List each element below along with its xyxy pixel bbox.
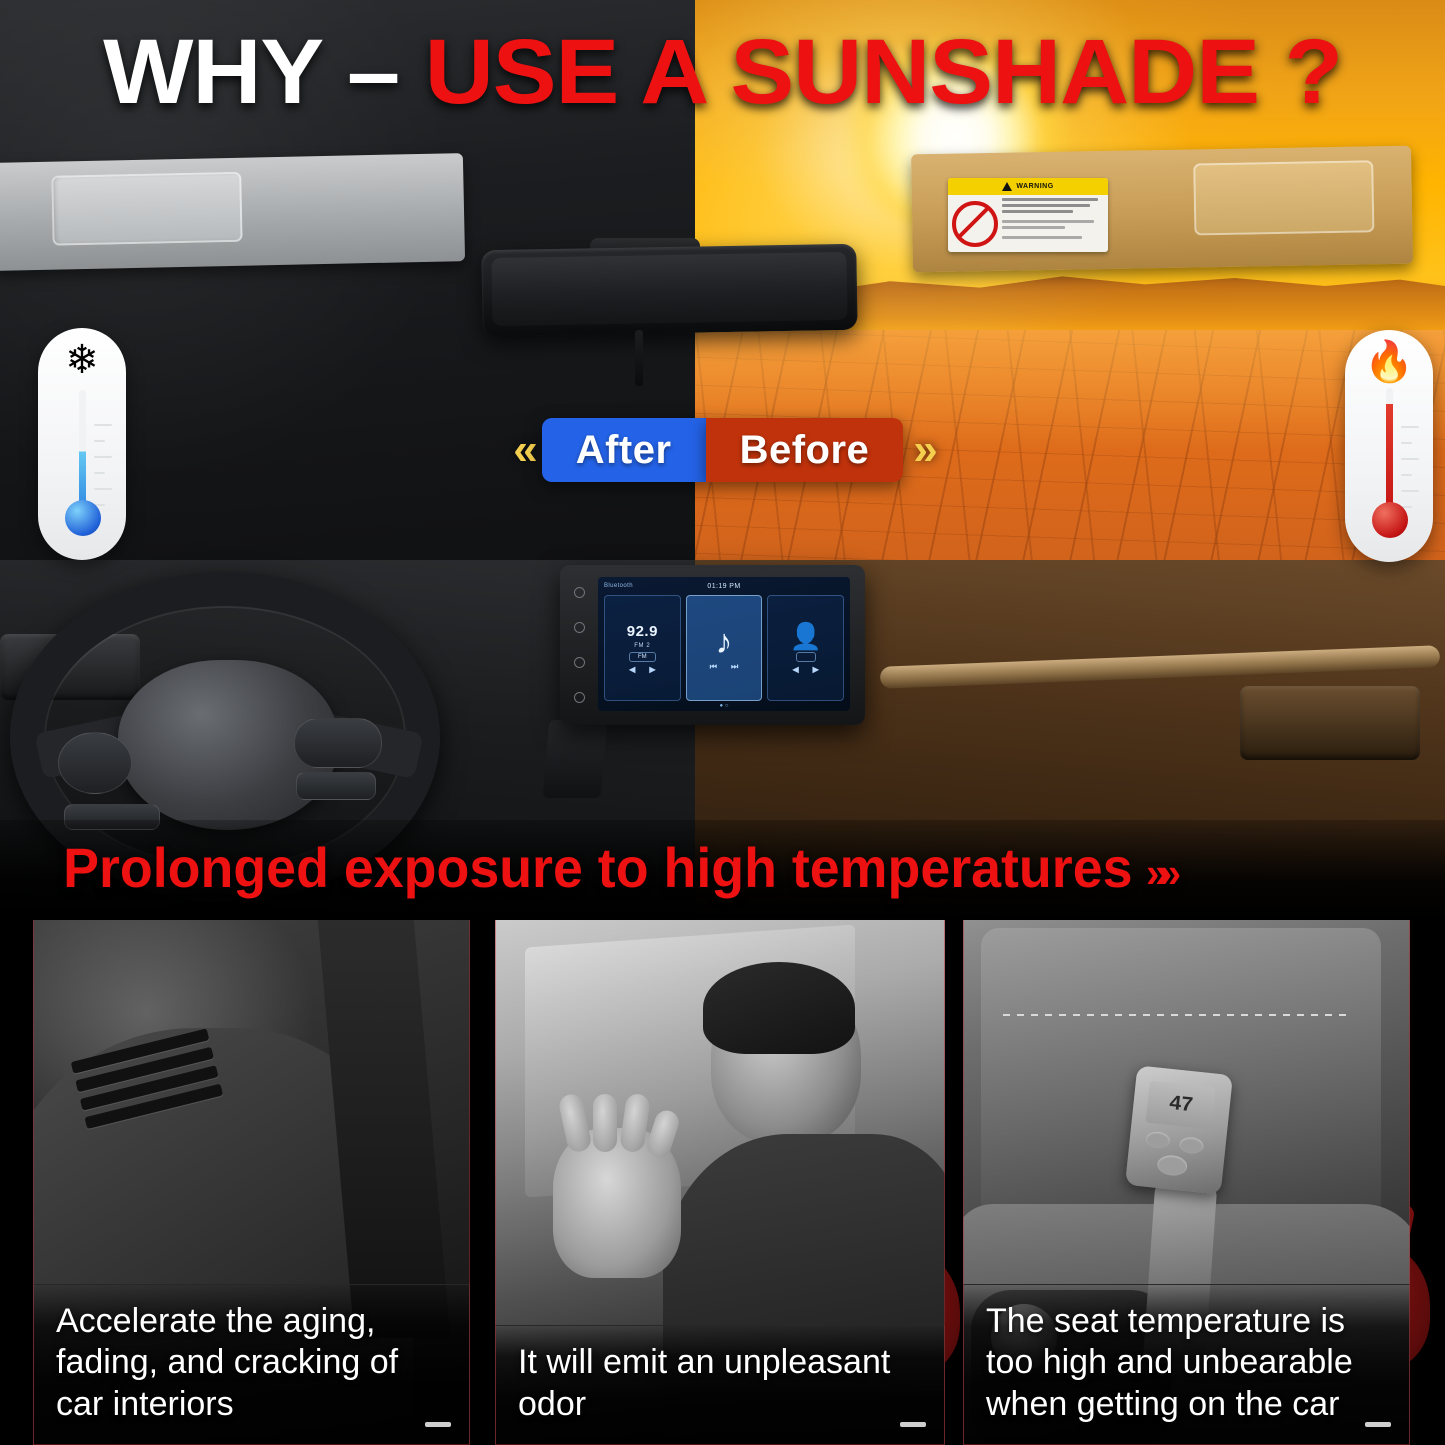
thermometer-bulb-hot [1372, 502, 1408, 538]
radio-seek-arrows[interactable]: ◀▶ [629, 665, 655, 674]
sun-visor-left [0, 153, 465, 271]
chevron-right-icon: » [903, 428, 941, 472]
media-next-icon[interactable]: ⏭ [731, 662, 738, 672]
vanity-mirror-left [51, 172, 242, 246]
panel-3-caption-box: The seat temperature is too high and unb… [963, 1284, 1410, 1445]
panel-3-caption: The seat temperature is too high and unb… [986, 1301, 1391, 1425]
panel-1-caption-box: Accelerate the aging, fading, and cracki… [33, 1284, 470, 1445]
person-hair [703, 962, 855, 1054]
panel-1-caption: Accelerate the aging, fading, and cracki… [56, 1301, 451, 1425]
infotainment-head-unit: Bluetooth 01:19 PM 92.9 FM 2 FM ◀▶ ♪ [560, 565, 865, 725]
thermometer-bulb-cold [65, 500, 101, 536]
subtitle-text: Prolonged exposure to high temperatures [63, 836, 1132, 899]
phone-card[interactable]: 👤 ◀▶ [767, 595, 844, 701]
waving-hand [553, 1128, 681, 1278]
panel-2-caption: It will emit an unpleasant odor [518, 1342, 926, 1425]
consequences-strip: Accelerate the aging, fading, and cracki… [0, 918, 1445, 1445]
warning-header: WARNING [948, 178, 1108, 195]
vanity-mirror-right [1193, 160, 1374, 235]
home-cards: 92.9 FM 2 FM ◀▶ ♪ ⏮⏭ 👤 [604, 595, 844, 701]
radio-frequency: 92.9 [627, 623, 658, 640]
music-note-icon: ♪ [716, 625, 733, 659]
seek-next-icon[interactable]: ▶ [649, 665, 655, 674]
steering-control-right-pad [294, 718, 382, 768]
media-prev-icon[interactable]: ⏮ [710, 662, 717, 672]
phone-arrows[interactable]: ◀▶ [793, 665, 819, 674]
mirror-glass [491, 252, 847, 326]
before-badge[interactable]: Before [706, 418, 904, 482]
product-infographic: WARNING [0, 0, 1445, 1445]
prohibition-symbol [952, 201, 998, 247]
warning-text-lines [1002, 195, 1108, 252]
airbag-warning-sticker: WARNING [948, 178, 1108, 252]
panel-interior-aging: Accelerate the aging, fading, and cracki… [33, 918, 470, 1445]
no-child-seat-icon [948, 195, 1002, 252]
seek-prev-icon[interactable]: ◀ [629, 665, 635, 674]
snowflake-icon: ❄ [38, 340, 126, 380]
media-card[interactable]: ♪ ⏮⏭ [686, 595, 763, 701]
phone-chip[interactable] [796, 652, 816, 662]
panel-hot-seat: 47 The seat temperature is too high and … [963, 918, 1410, 1445]
panel-2-caption-box: It will emit an unpleasant odor [495, 1325, 945, 1445]
menu-button-icon[interactable] [574, 692, 585, 703]
thermometer-gun-display: 47 [1146, 1081, 1216, 1130]
temperature-reading: 47 [1168, 1092, 1193, 1117]
page-indicator: ● ○ [598, 703, 850, 709]
gun-button-down-icon[interactable] [1179, 1136, 1205, 1154]
gun-button-mode-icon[interactable] [1156, 1154, 1188, 1177]
clock-display: 01:19 PM [707, 583, 740, 590]
caption-dash-icon [900, 1422, 926, 1427]
mirror-stem [635, 330, 643, 386]
bluetooth-status-icon: Bluetooth [604, 583, 633, 589]
title-red-part: USE A SUNSHADE ? [425, 21, 1342, 123]
seat-stitching [1003, 1014, 1351, 1016]
subtitle-chevrons-icon: »» [1146, 849, 1172, 896]
person-icon: 👤 [789, 623, 821, 649]
media-transport-arrows[interactable]: ⏮⏭ [710, 662, 738, 672]
flame-icon: 🔥 [1345, 342, 1433, 382]
infotainment-screen[interactable]: Bluetooth 01:19 PM 92.9 FM 2 FM ◀▶ ♪ [598, 577, 850, 711]
power-button-icon[interactable] [574, 587, 585, 598]
thermometer-gun-buttons[interactable] [1142, 1131, 1210, 1181]
status-bar: Bluetooth 01:19 PM [598, 579, 850, 593]
chevron-left-icon: « [503, 428, 541, 472]
radio-band: FM 2 [634, 643, 650, 649]
phone-prev-icon[interactable]: ◀ [793, 665, 799, 674]
warning-body [948, 195, 1108, 252]
rear-view-mirror [481, 244, 857, 337]
after-badge[interactable]: After [542, 418, 706, 482]
caption-dash-icon [425, 1422, 451, 1427]
radio-preset-chip[interactable]: FM [629, 652, 656, 662]
before-after-toggle: « After Before » [0, 414, 1445, 486]
page-title: WHY – USE A SUNSHADE ? [0, 26, 1445, 118]
air-vent-right [1240, 686, 1420, 760]
subtitle-banner: Prolonged exposure to high temperatures»… [63, 840, 1172, 896]
home-button-icon[interactable] [574, 622, 585, 633]
warning-label: WARNING [1016, 183, 1053, 190]
steering-control-left-pad [58, 732, 132, 794]
volume-button-icon[interactable] [574, 657, 585, 668]
infrared-thermometer-gun: 47 [1125, 1065, 1233, 1194]
title-white-part: WHY – [103, 21, 399, 123]
radio-card[interactable]: 92.9 FM 2 FM ◀▶ [604, 595, 681, 701]
head-unit-stand [543, 720, 608, 798]
panel-unpleasant-odor: It will emit an unpleasant odor [495, 918, 945, 1445]
phone-next-icon[interactable]: ▶ [813, 665, 819, 674]
head-unit-side-buttons[interactable] [568, 575, 590, 715]
caption-dash-icon [1365, 1422, 1391, 1427]
steering-control-right-lower [296, 772, 376, 800]
hero-comparison-section: WARNING [0, 0, 1445, 918]
warning-triangle-icon [1002, 182, 1012, 191]
gun-button-up-icon[interactable] [1145, 1131, 1171, 1149]
